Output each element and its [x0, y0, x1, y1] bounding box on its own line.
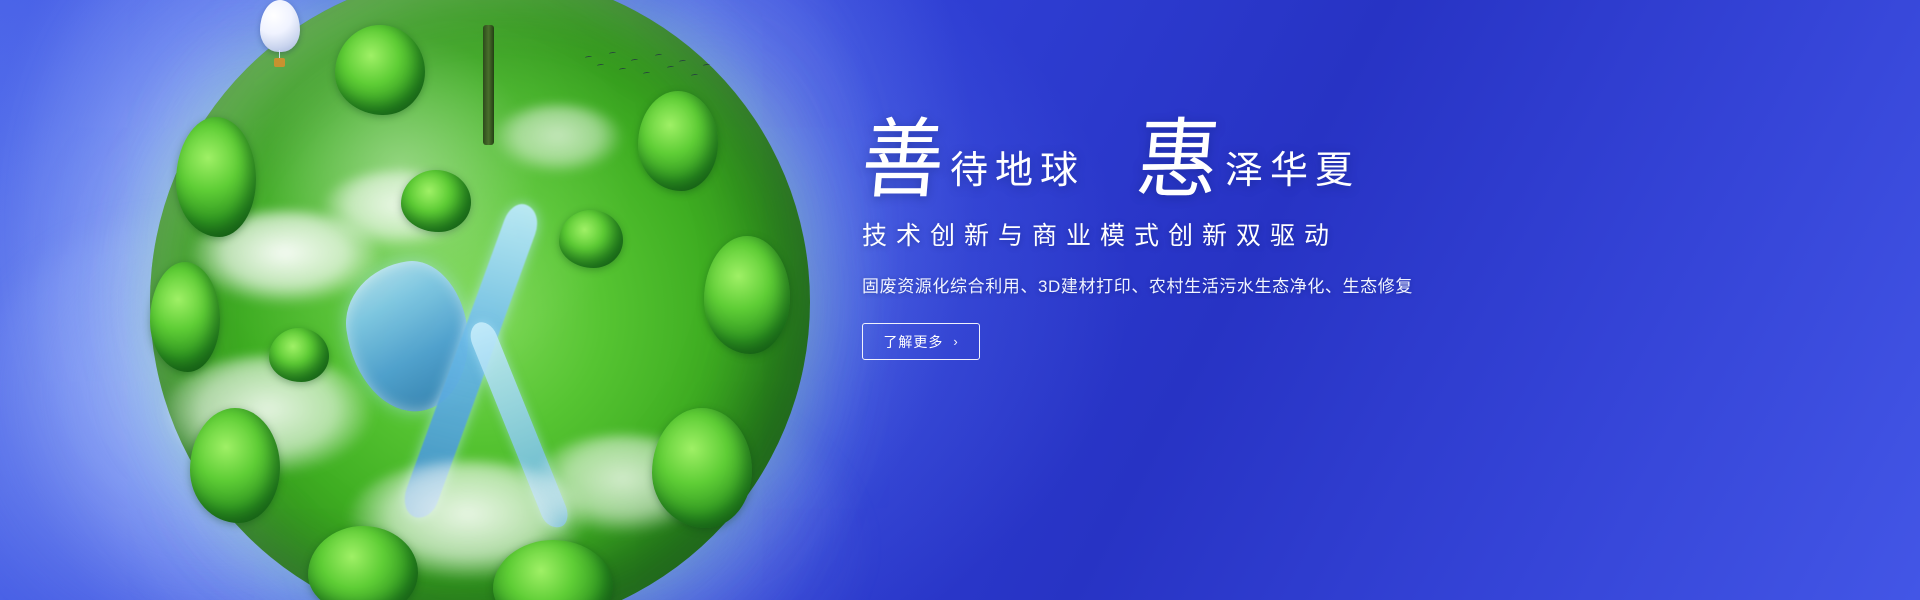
cloud-streak	[524, 0, 915, 600]
cloud-puff	[190, 210, 380, 305]
learn-more-button[interactable]: 了解更多 ›	[862, 323, 980, 360]
balloon-basket	[274, 58, 285, 67]
cloud-puff	[348, 460, 588, 580]
bird-icon	[667, 66, 674, 70]
tree-cluster	[704, 236, 790, 354]
cloud-streak	[0, 0, 520, 600]
hero-content: 善 待地球 惠 泽华夏 技术创新与商业模式创新双驱动 固废资源化综合利用、3D建…	[862, 120, 1622, 360]
globe-sphere	[150, 0, 810, 600]
lake-shape	[338, 255, 478, 420]
tree-cluster	[638, 91, 718, 191]
tree-cluster	[190, 408, 280, 523]
cloud-streak	[0, 220, 390, 600]
hero-description: 固废资源化综合利用、3D建材打印、农村生活污水生态净化、生态修复	[862, 272, 1622, 297]
headline-brush-char-1: 善	[858, 118, 954, 205]
cloud-puff	[322, 170, 472, 248]
tree-cluster	[150, 262, 220, 372]
bird-icon	[691, 74, 698, 78]
bird-icon	[655, 54, 662, 58]
bird-icon	[585, 56, 592, 60]
tree-cluster	[335, 25, 425, 115]
learn-more-label: 了解更多	[883, 332, 943, 352]
bird-icon	[631, 59, 638, 63]
cloud-streak	[82, 22, 457, 600]
bird-icon	[597, 64, 604, 68]
tree-cluster	[269, 328, 329, 382]
tree-cluster	[493, 540, 613, 600]
bird-icon	[619, 68, 626, 72]
tree-cluster	[652, 408, 752, 528]
chevron-right-icon: ›	[953, 335, 958, 348]
bird-icon	[643, 72, 650, 76]
headline-brush-char-2: 惠	[1133, 118, 1229, 205]
bird-icon	[679, 60, 686, 64]
tree-trunk	[483, 25, 494, 145]
bird-icon	[703, 64, 710, 68]
cloud-puff	[493, 104, 623, 174]
hero-subtitle: 技术创新与商业模式创新双驱动	[862, 216, 1622, 252]
bird-flock	[585, 50, 715, 90]
tree-cluster	[176, 117, 256, 237]
bird-icon	[609, 52, 616, 56]
balloon-line	[279, 50, 280, 60]
headline-rest-1: 待地球	[950, 151, 1085, 202]
hero-banner: 善 待地球 惠 泽华夏 技术创新与商业模式创新双驱动 固废资源化综合利用、3D建…	[0, 0, 1920, 600]
tree-cluster	[559, 210, 623, 268]
headline-rest-2: 泽华夏	[1225, 151, 1360, 202]
hot-air-balloon-icon	[260, 0, 300, 52]
tree-cluster	[401, 170, 471, 232]
cloud-streak	[300, 380, 860, 600]
tree-cluster	[308, 526, 418, 600]
cloud-puff	[163, 355, 373, 475]
globe-illustration	[150, 0, 810, 600]
river-shape	[397, 201, 543, 521]
cloud-puff	[533, 434, 713, 534]
river-shape	[466, 318, 573, 532]
hero-headline: 善 待地球 惠 泽华夏	[862, 120, 1622, 202]
